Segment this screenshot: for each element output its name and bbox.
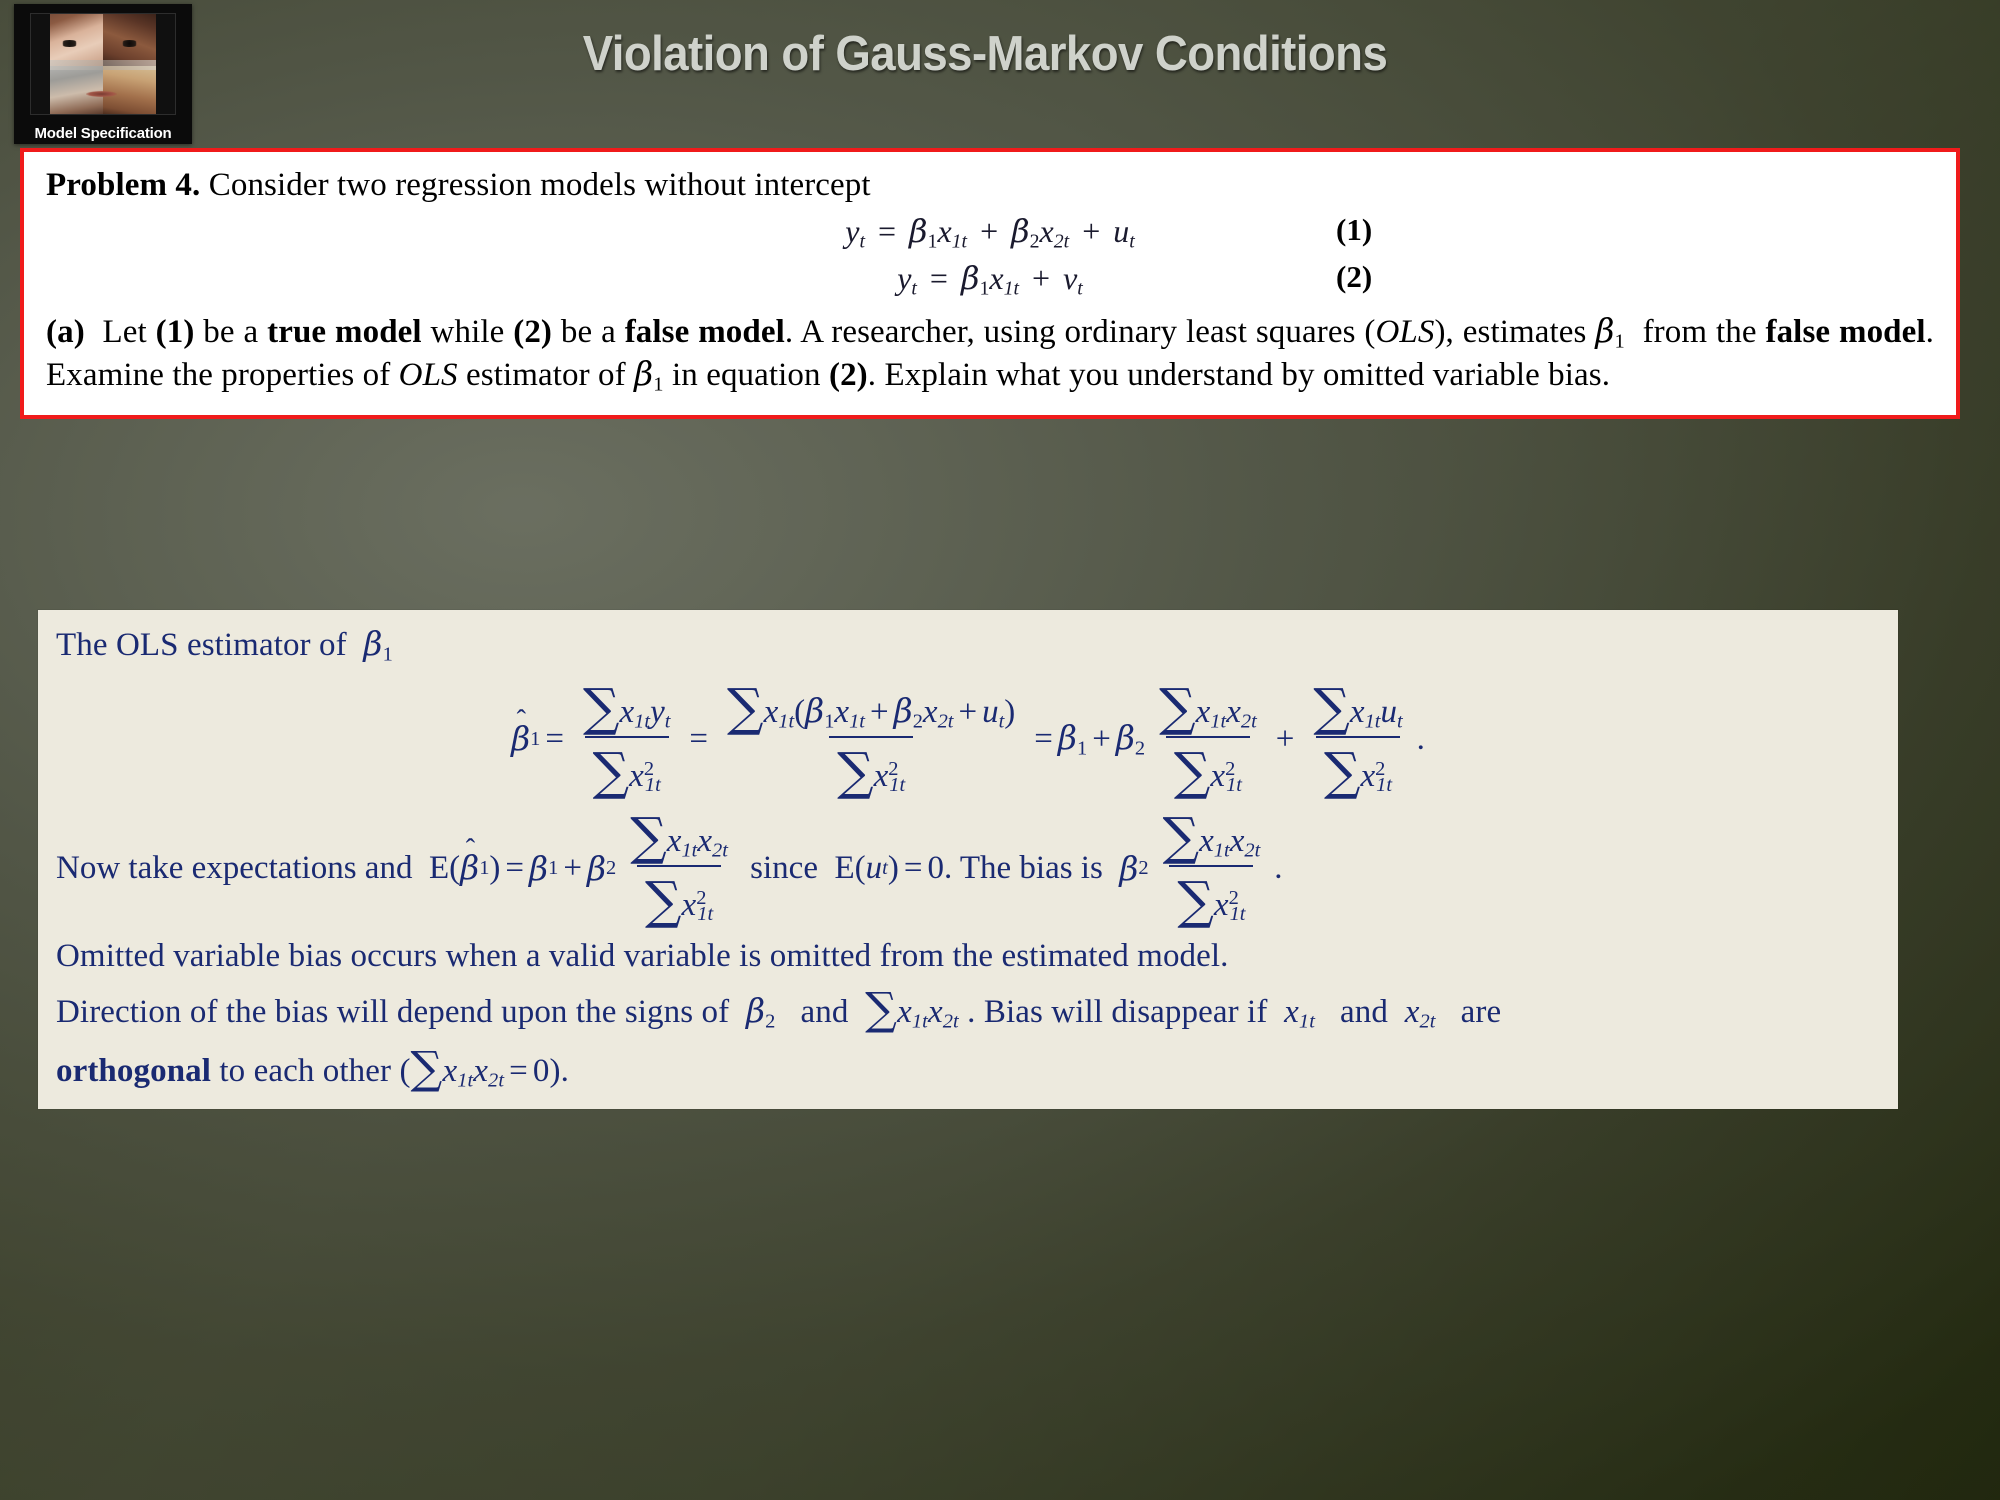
derivation-beta1-term: β1 [1058,718,1087,761]
expectation-expression: E(ˆβ1) = β1 + β2 ∑x1tx2t ∑x21t [429,807,742,930]
expectation-lead: Now take expectations and [56,850,412,887]
paragraph2-pre: Direction of the bias will depend upon t… [56,994,729,1030]
thumbnail-card[interactable]: Model Specification [14,4,192,144]
fraction-step2: ∑x1t(β1x1t+β2x2t+ut) ∑x21t [719,676,1023,799]
paragraph3-close: ). [549,1053,568,1089]
paragraph3-bold: orthogonal [56,1053,211,1089]
expectation-middle: since [750,850,818,887]
problem-part-a: (a) Let (1) be a true model while (2) be… [46,311,1934,398]
expectation-tail: . The bias is [944,850,1103,887]
equation-2-body: yt = β1x1t + vt [897,259,1083,301]
solution-box: The OLS estimator of β1 ˆβ1 = ∑x1tyt ∑x2… [38,610,1898,1109]
collage-letterbox-right [156,14,175,114]
bias-expression: β2 ∑x1tx2t ∑x21t . [1119,807,1282,930]
fraction-bias: ∑x1tx2t ∑x21t [1155,805,1269,928]
collage-lips [86,91,118,97]
thumbnail-label: Model Specification [34,125,171,142]
expectation-line: Now take expectations and E(ˆβ1) = β1 + … [56,807,1880,930]
equation-row-1: yt = β1x1t + β2x2t + ut (1) [46,212,1934,254]
derivation-equation: ˆβ1 = ∑x1tyt ∑x21t = ∑x1t(β1x1t+β2x2t+ut… [56,678,1880,801]
page-title: Violation of Gauss-Markov Conditions [311,26,1660,82]
solution-intro-line: The OLS estimator of β1 [56,624,1880,668]
model-specification-image [30,13,176,115]
solution-paragraph-3: orthogonal to each other (∑x1tx2t=0). [56,1039,1880,1094]
paragraph2-mid: and [801,994,849,1030]
paragraph2-and: and [1340,994,1388,1030]
derivation-period: . [1417,721,1425,758]
equation-1-body: yt = β1x1t + β2x2t + ut [845,212,1135,254]
problem-intro: Consider two regression models without i… [209,167,871,203]
expectation-condition: E(ut)=0 [834,850,943,887]
solution-paragraph-1: Omitted variable bias occurs when a vali… [56,936,1880,976]
paragraph3-rest: to each other ( [219,1053,410,1089]
beta-hat-1: ˆβ [511,719,530,759]
equation-1-tag: (1) [1336,212,1372,248]
collage-eye-left [60,40,79,47]
fraction-step3: ∑x1tx2t ∑x21t [1151,676,1265,799]
bias-period: . [1274,850,1282,887]
solution-paragraph-2: Direction of the bias will depend upon t… [56,980,1880,1035]
fraction-step1: ∑x1tyt ∑x21t [575,676,678,799]
problem-heading: Problem 4. [46,167,200,203]
solution-intro-text: The OLS estimator of [56,627,347,663]
equation-row-2: yt = β1x1t + vt (2) [46,259,1934,301]
paragraph2-post: . Bias will disappear if [967,994,1267,1030]
derivation-beta2-term: β2 [1116,718,1145,761]
paragraph2-are: are [1461,994,1502,1030]
problem-heading-line: Problem 4. Consider two regression model… [46,166,1934,206]
fraction-expectation: ∑x1tx2t ∑x21t [622,805,736,928]
problem-statement-box: Problem 4. Consider two regression model… [20,148,1960,419]
collage-eye-right [120,40,139,47]
collage-horizontal-band [31,60,175,70]
fraction-step4: ∑x1tut ∑x21t [1305,676,1410,799]
collage-letterbox-left [31,14,50,114]
equation-2-tag: (2) [1336,259,1372,295]
